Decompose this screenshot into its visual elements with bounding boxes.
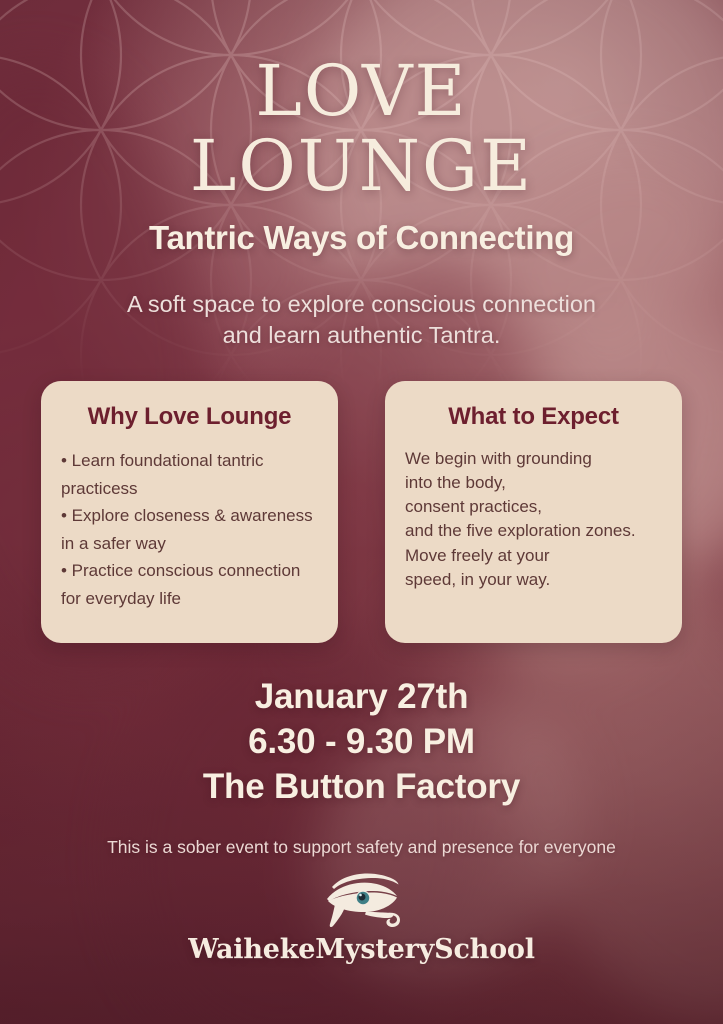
- title-block: LOVE LOUNGE: [0, 58, 723, 199]
- card-bullet: • Explore closeness & awareness in a saf…: [61, 502, 318, 557]
- sober-event-note: This is a sober event to support safety …: [107, 837, 616, 858]
- poster-lede-line-1: A soft space to explore conscious connec…: [127, 289, 596, 320]
- card-line: into the body,: [405, 471, 662, 495]
- card-title: What to Expect: [405, 403, 662, 431]
- card-bullet: • Practice conscious connection for ever…: [61, 557, 318, 612]
- event-details: January 27th 6.30 - 9.30 PM The Button F…: [203, 675, 520, 809]
- poster-lede-line-2: and learn authentic Tantra.: [127, 320, 596, 351]
- poster-lede: A soft space to explore conscious connec…: [127, 289, 596, 351]
- logo-wordmark: WaihekeMysterySchool: [188, 934, 535, 965]
- card-line: Move freely at your: [405, 544, 662, 568]
- info-cards: Why Love Lounge • Learn foundational tan…: [0, 381, 723, 643]
- card-what-to-expect: What to Expect We begin with grounding i…: [385, 381, 682, 643]
- poster-content: LOVE LOUNGE Tantric Ways of Connecting A…: [0, 0, 723, 1024]
- card-line: and the five exploration zones.: [405, 519, 662, 543]
- poster-title-line-2: LOUNGE: [0, 133, 723, 200]
- card-line: speed, in your way.: [405, 568, 662, 592]
- event-venue: The Button Factory: [203, 765, 520, 810]
- card-why-love-lounge: Why Love Lounge • Learn foundational tan…: [41, 381, 338, 643]
- card-body: • Learn foundational tantric practicess …: [61, 447, 318, 612]
- card-title: Why Love Lounge: [61, 403, 318, 431]
- poster-title-line-1: LOVE: [0, 58, 723, 125]
- poster-subtitle: Tantric Ways of Connecting: [149, 219, 574, 257]
- card-line: We begin with grounding: [405, 447, 662, 471]
- event-date: January 27th: [203, 675, 520, 720]
- card-body: We begin with grounding into the body, c…: [405, 447, 662, 592]
- brand-logo: WaihekeMysterySchool: [188, 872, 535, 965]
- card-line: consent practices,: [405, 495, 662, 519]
- poster: LOVE LOUNGE Tantric Ways of Connecting A…: [0, 0, 723, 1024]
- eye-of-horus-icon: [318, 872, 404, 928]
- event-time: 6.30 - 9.30 PM: [203, 720, 520, 765]
- card-bullet: • Learn foundational tantric practicess: [61, 447, 318, 502]
